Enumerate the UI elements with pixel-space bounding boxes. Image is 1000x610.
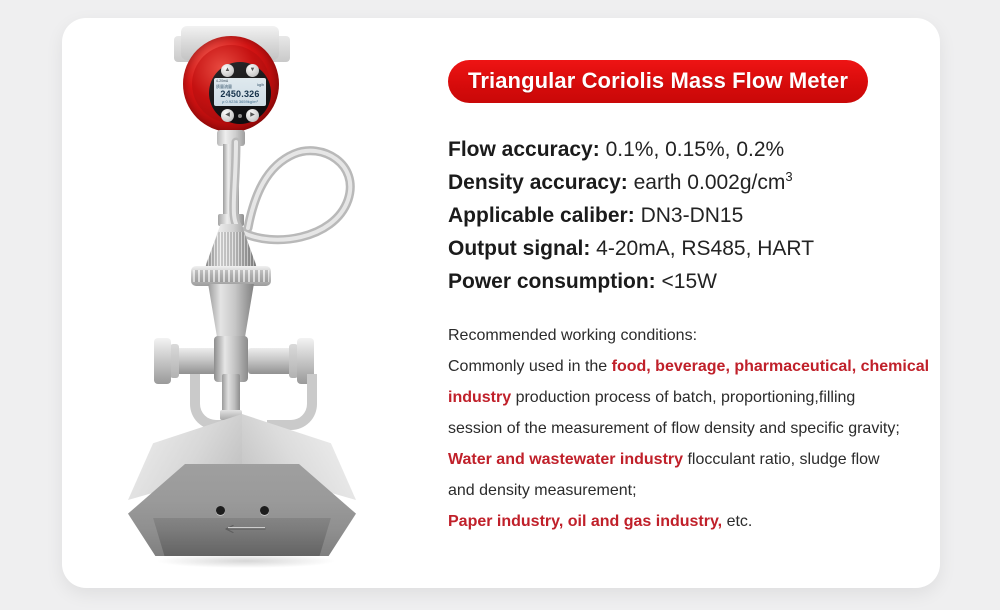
product-info-pane: Triangular Coriolis Mass Flow Meter Flow… [448, 60, 940, 580]
spec-label: Flow accuracy: [448, 138, 600, 161]
spec-value: 4-20mA, RS485, HART [596, 237, 814, 260]
spec-value-text: earth 0.002g/cm [634, 171, 786, 194]
description-highlight-industries: food, beverage, pharmaceutical, chemical [612, 358, 929, 375]
description-line-4: session of the measurement of flow densi… [448, 413, 940, 444]
screenshot-root: ▲ ▼ 4-20mA 质量流量 kg/h 2450.326 ρ 0.9236 3… [0, 0, 1000, 610]
sensor-bell [205, 284, 257, 340]
spec-row-applicable-caliber: Applicable caliber: DN3-DN15 [448, 199, 940, 232]
cone-ribs [205, 232, 257, 266]
description-text: flocculant ratio, sludge flow [683, 451, 880, 468]
inlet-flange-ring [170, 344, 179, 378]
spec-value: 0.1%, 0.15%, 0.2% [606, 138, 785, 161]
description-highlight-water-industry: Water and wastewater industry [448, 451, 683, 468]
product-image-pane: ▲ ▼ 4-20mA 质量流量 kg/h 2450.326 ρ 0.9236 3… [62, 18, 442, 588]
button-right-icon[interactable]: ▶ [246, 109, 259, 122]
description-text: etc. [722, 513, 752, 530]
lcd-status-text: 4-20mA [216, 79, 228, 83]
inlet-flange [154, 338, 171, 384]
spec-row-density-accuracy: Density accuracy: earth 0.002g/cm3 [448, 166, 940, 199]
button-left-icon[interactable]: ◀ [221, 109, 234, 122]
housing-bolt-left [216, 506, 225, 515]
transmitter-head: ▲ ▼ 4-20mA 质量流量 kg/h 2450.326 ρ 0.9236 3… [183, 36, 279, 132]
spec-row-flow-accuracy: Flow accuracy: 0.1%, 0.15%, 0.2% [448, 133, 940, 166]
product-title-badge: Triangular Coriolis Mass Flow Meter [448, 60, 868, 103]
spec-value-superscript: 3 [785, 169, 792, 184]
description-line-6: and density measurement; [448, 475, 940, 506]
description-heading: Recommended working conditions: [448, 320, 940, 351]
triangular-sensor-housing [128, 414, 356, 556]
description-highlight-paper-oil-gas: Paper industry, oil and gas industry, [448, 513, 722, 530]
neck-tube [223, 144, 239, 220]
product-ground-shadow [158, 554, 334, 568]
lcd-primary-reading: 2450.326 [214, 89, 266, 99]
spec-label: Power consumption: [448, 270, 656, 293]
description-line-5: Water and wastewater industry flocculant… [448, 444, 940, 475]
spec-value: DN3-DN15 [641, 204, 744, 227]
center-stub [222, 374, 240, 414]
lcd-display: 4-20mA 质量流量 kg/h 2450.326 ρ 0.9236 3659k… [214, 78, 266, 106]
specification-list: Flow accuracy: 0.1%, 0.15%, 0.2% Density… [448, 133, 940, 298]
button-down-icon[interactable]: ▼ [246, 64, 259, 77]
coriolis-flow-meter-illustration: ▲ ▼ 4-20mA 质量流量 kg/h 2450.326 ρ 0.9236 3… [62, 18, 442, 588]
transmitter-bezel: ▲ ▼ 4-20mA 质量流量 kg/h 2450.326 ρ 0.9236 3… [192, 45, 270, 123]
flow-direction-arrow-icon [218, 524, 266, 534]
spec-label: Output signal: [448, 237, 590, 260]
spec-label: Density accuracy: [448, 171, 628, 194]
housing-bolt-right [260, 506, 269, 515]
lcd-secondary-reading: ρ 0.9236 3659kg/m³ [214, 99, 266, 104]
spec-label: Applicable caliber: [448, 204, 635, 227]
spec-row-output-signal: Output signal: 4-20mA, RS485, HART [448, 232, 940, 265]
spec-value: earth 0.002g/cm3 [634, 171, 793, 194]
description-line-2: Commonly used in the food, beverage, pha… [448, 351, 940, 382]
status-led [238, 114, 242, 118]
description-block: Recommended working conditions: Commonly… [448, 320, 940, 537]
description-highlight-industry: industry [448, 389, 511, 406]
description-text: production process of batch, proportioni… [511, 389, 855, 406]
spec-value: <15W [662, 270, 717, 293]
collar-knurling [193, 270, 269, 282]
button-up-icon[interactable]: ▲ [221, 64, 234, 77]
description-line-3: industry production process of batch, pr… [448, 382, 940, 413]
spec-row-power-consumption: Power consumption: <15W [448, 265, 940, 298]
transmitter-faceplate: ▲ ▼ 4-20mA 质量流量 kg/h 2450.326 ρ 0.9236 3… [209, 62, 271, 124]
description-line-7: Paper industry, oil and gas industry, et… [448, 506, 940, 537]
description-text: Commonly used in the [448, 358, 612, 375]
lcd-unit-label: kg/h [257, 83, 264, 87]
